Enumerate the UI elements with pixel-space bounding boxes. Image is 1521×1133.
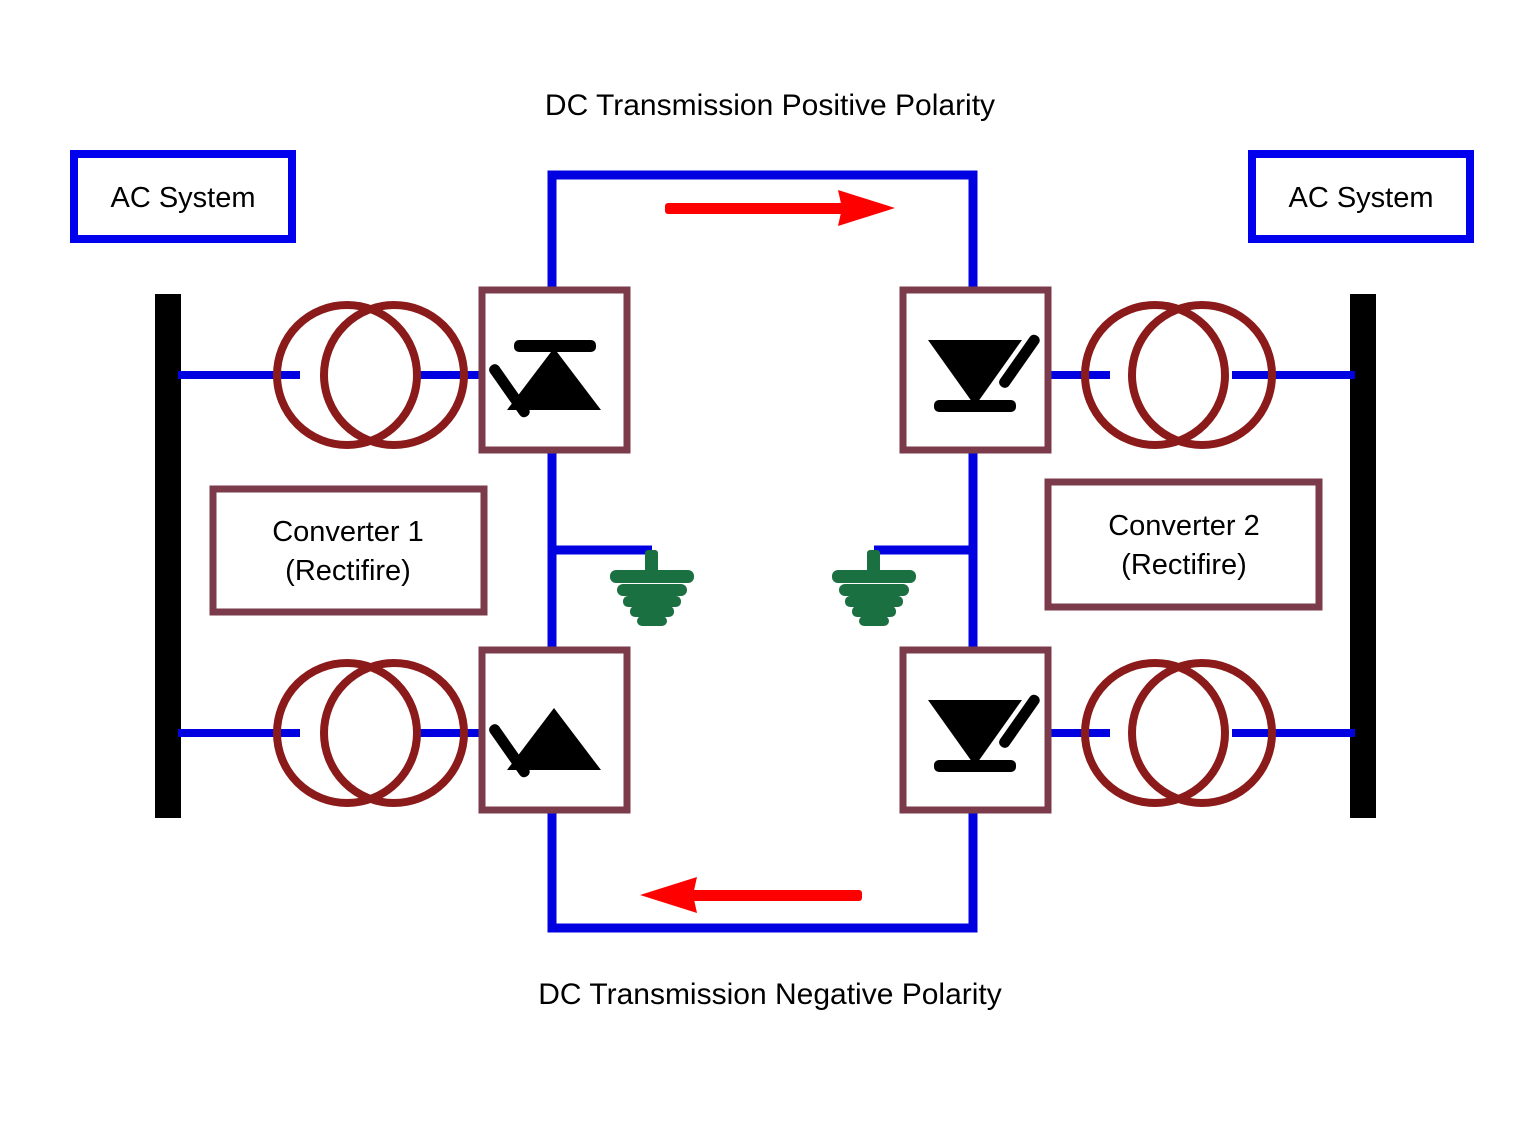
valve-top-right[interactable] [903,290,1048,450]
dc-line-negative-polarity [552,812,973,928]
diagram-canvas: DC Transmission Positive Polarity DC Tra… [0,0,1521,1133]
valve-bottom-right[interactable] [903,650,1048,810]
title-dc-positive-polarity: DC Transmission Positive Polarity [545,89,995,122]
converter-1-label-box[interactable]: Converter 1 (Rectifire) [213,489,484,612]
ac-system-right[interactable]: AC System [1252,154,1470,239]
valve-bottom-left[interactable] [482,650,627,810]
converter-2-box[interactable] [1048,482,1319,607]
current-arrow-positive [665,190,895,226]
converter-2-label-line1: Converter 2 [1108,510,1260,542]
title-dc-negative-polarity: DC Transmission Negative Polarity [538,978,1002,1011]
ground-left [610,550,694,626]
dc-line-positive-polarity [552,175,973,290]
busbar-left [155,294,181,818]
valve-top-left[interactable] [482,290,627,450]
hvdc-bipolar-diagram: DC Transmission Positive Polarity DC Tra… [0,0,1521,1133]
converter-1-label-line1: Converter 1 [272,516,424,548]
ac-system-left[interactable]: AC System [74,154,292,239]
converter-2-label-line2: (Rectifire) [1121,549,1247,581]
current-arrow-negative [640,877,862,913]
converter-1-box[interactable] [213,489,484,612]
ground-right [832,550,916,626]
ac-system-left-label: AC System [110,182,255,214]
converter-1-label-line2: (Rectifire) [285,555,411,587]
converter-2-label-box[interactable]: Converter 2 (Rectifire) [1048,482,1319,607]
ac-system-right-label: AC System [1288,182,1433,214]
